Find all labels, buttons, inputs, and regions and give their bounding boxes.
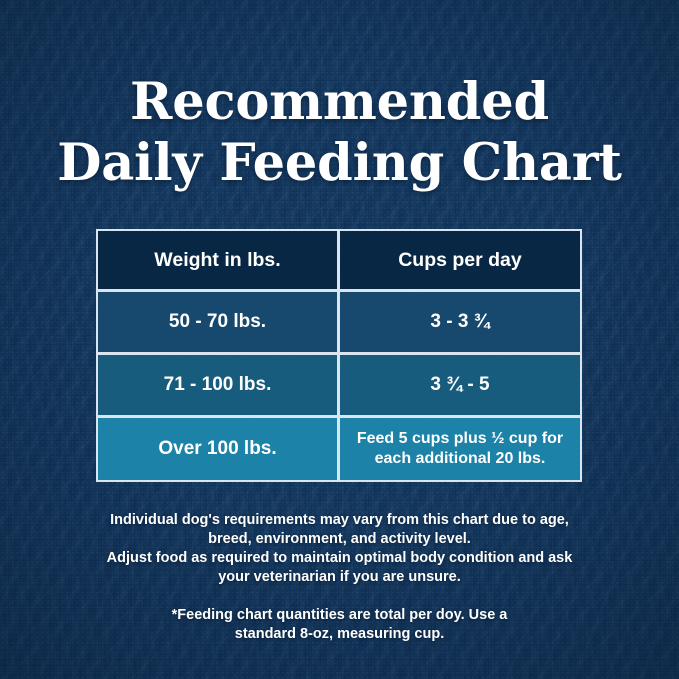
page-title-line-1: Recommended bbox=[0, 72, 679, 133]
cell-weight-range-3: Over 100 lbs. bbox=[98, 418, 337, 480]
footnote-1-line-2: breed, environment, and activity level. bbox=[208, 531, 471, 547]
feeding-chart-image: Recommended Daily Feeding Chart Weight i… bbox=[0, 0, 679, 679]
footnote-1-line-3: Adjust food as required to maintain opti… bbox=[107, 550, 573, 566]
value-cups-3-line-1: Feed 5 cups plus ½ cup for bbox=[357, 429, 563, 449]
table-row: 50 - 70 lbs. 3 - 3 ¾ bbox=[98, 292, 580, 352]
cell-weight-range-1: 50 - 70 lbs. bbox=[98, 292, 337, 352]
footnotes: Individual dog's requirements may vary f… bbox=[90, 511, 590, 644]
value-cups-2: 3 ¾ - 5 bbox=[430, 374, 489, 396]
footnote-1-line-4: your veterinarian if you are unsure. bbox=[218, 569, 461, 585]
value-cups-3-line-2: each additional 20 lbs. bbox=[357, 449, 563, 469]
cell-cups-2: 3 ¾ - 5 bbox=[340, 355, 580, 415]
cell-cups-1: 3 - 3 ¾ bbox=[340, 292, 580, 352]
cell-cups-3: Feed 5 cups plus ½ cup for each addition… bbox=[340, 418, 580, 480]
header-label-weight: Weight in lbs. bbox=[154, 249, 280, 272]
table-row: 71 - 100 lbs. 3 ¾ - 5 bbox=[98, 355, 580, 415]
feeding-table: Weight in lbs. Cups per day 50 - 70 lbs.… bbox=[96, 229, 582, 482]
value-weight-range-1: 50 - 70 lbs. bbox=[169, 311, 266, 333]
table-row: Over 100 lbs. Feed 5 cups plus ½ cup for… bbox=[98, 418, 580, 480]
footnote-1-line-1: Individual dog's requirements may vary f… bbox=[110, 512, 569, 528]
content-layer: Recommended Daily Feeding Chart Weight i… bbox=[0, 0, 679, 679]
footnote-2-line-2: standard 8-oz, measuring cup. bbox=[235, 626, 445, 642]
table-header-row: Weight in lbs. Cups per day bbox=[98, 231, 580, 289]
footnote-2-line-1: *Feeding chart quantities are total per … bbox=[172, 607, 508, 623]
value-weight-range-2: 71 - 100 lbs. bbox=[164, 374, 272, 396]
page-title: Recommended Daily Feeding Chart bbox=[0, 72, 679, 194]
value-cups-1: 3 - 3 ¾ bbox=[430, 311, 489, 333]
value-weight-range-3: Over 100 lbs. bbox=[158, 438, 276, 460]
footnote-spacer bbox=[90, 587, 590, 606]
footnote-paragraph-1: Individual dog's requirements may vary f… bbox=[90, 511, 590, 587]
header-cell-cups: Cups per day bbox=[340, 231, 580, 289]
footnote-paragraph-2: *Feeding chart quantities are total per … bbox=[90, 606, 590, 644]
header-label-cups: Cups per day bbox=[398, 249, 522, 272]
page-title-line-2: Daily Feeding Chart bbox=[0, 133, 679, 194]
header-cell-weight: Weight in lbs. bbox=[98, 231, 337, 289]
value-cups-3-wrapper: Feed 5 cups plus ½ cup for each addition… bbox=[357, 429, 563, 469]
cell-weight-range-2: 71 - 100 lbs. bbox=[98, 355, 337, 415]
